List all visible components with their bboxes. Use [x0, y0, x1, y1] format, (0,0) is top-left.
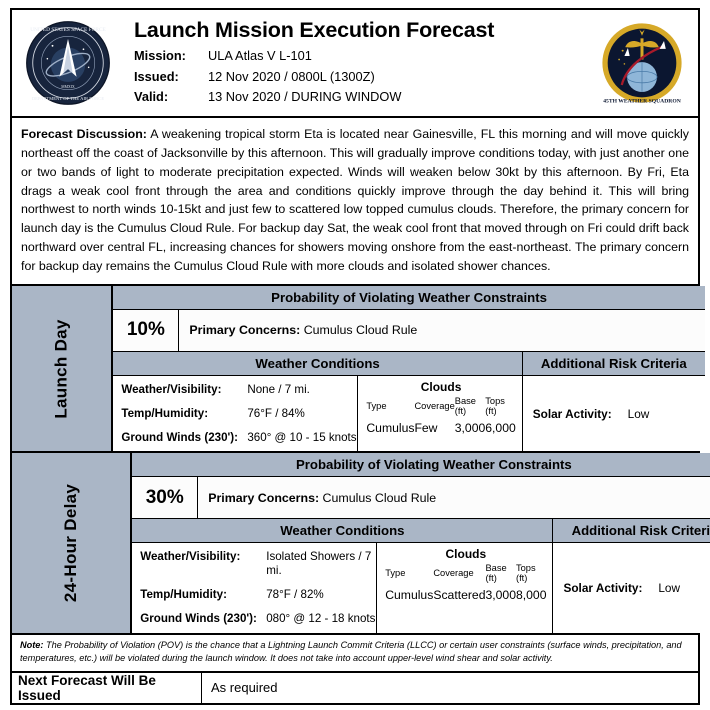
weather-conditions-band: Weather Conditions: [132, 519, 553, 542]
ground-winds-label: Ground Winds (230'):: [121, 431, 247, 445]
forecast-discussion-label: Forecast Discussion:: [21, 127, 147, 141]
solar-activity-line: Solar Activity:Low: [533, 407, 650, 421]
clouds-table: Clouds Type Coverage Base (ft) Tops (ft)…: [377, 543, 552, 633]
mission-value: ULA Atlas V L-101: [208, 46, 312, 67]
header-title-block: Launch Mission Execution Forecast Missio…: [116, 18, 594, 108]
primary-concerns-value: Cumulus Cloud Rule: [304, 323, 418, 337]
weather-visibility-value: Isolated Showers / 7 mi.: [266, 550, 376, 578]
meta-row-valid: Valid: 13 Nov 2020 / DURING WINDOW: [134, 87, 594, 108]
weather-visibility-label: Weather/Visibility:: [121, 383, 247, 397]
cloud-coverage-value: Scattered: [433, 588, 485, 602]
clouds-grid: Type Coverage Base (ft) Tops (ft) Cumulu…: [385, 563, 546, 602]
additional-risk-column: Solar Activity:Low: [523, 376, 705, 452]
cloud-tops-value: 6,000: [485, 421, 516, 435]
primary-concerns: Primary Concerns: Cumulus Cloud Rule: [179, 310, 417, 351]
valid-label: Valid:: [134, 87, 208, 108]
clouds-col-coverage: Coverage: [414, 396, 454, 421]
clouds-title: Clouds: [366, 380, 515, 394]
clouds-col-coverage: Coverage: [433, 563, 485, 588]
clouds-table: Clouds Type Coverage Base (ft) Tops (ft)…: [358, 376, 521, 452]
subhead-row: Weather Conditions Additional Risk Crite…: [113, 352, 704, 376]
clouds-grid: Type Coverage Base (ft) Tops (ft) Cumulu…: [366, 396, 515, 435]
space-force-seal: UNITED STATES SPACE FORCE DEPARTMENT OF …: [20, 20, 116, 106]
weather-conditions-band: Weather Conditions: [113, 352, 522, 375]
meta-row-issued: Issued: 12 Nov 2020 / 0800L (1300Z): [134, 67, 594, 88]
temp-humidity-label: Temp/Humidity:: [121, 407, 247, 421]
cloud-tops-value: 8,000: [516, 588, 547, 602]
clouds-col-type: Type: [385, 563, 433, 588]
weather-visibility-value: None / 7 mi.: [247, 383, 310, 397]
page-title: Launch Mission Execution Forecast: [134, 18, 594, 43]
section-vertical-label-24-hour-delay: 24-Hour Delay: [12, 453, 132, 633]
solar-activity-value: Low: [658, 581, 680, 595]
subhead-row: Weather Conditions Additional Risk Crite…: [132, 519, 710, 543]
ground-winds-line: Ground Winds (230'): 080° @ 12 - 18 knot…: [140, 612, 376, 626]
pov-row: 30% Primary Concerns: Cumulus Cloud Rule: [132, 477, 710, 519]
pov-note-text: The Probability of Violation (POV) is th…: [20, 640, 682, 663]
clouds-col-type: Type: [366, 396, 414, 421]
solar-activity-label: Solar Activity:: [533, 407, 612, 421]
weather-visibility-line: Weather/Visibility: None / 7 mi.: [121, 383, 357, 397]
vertical-label-text: Launch Day: [52, 319, 72, 418]
next-forecast-label: Next Forecast Will Be Issued: [12, 673, 202, 703]
pov-note: Note: The Probability of Violation (POV)…: [10, 635, 700, 673]
primary-concerns-label: Primary Concerns:: [208, 491, 319, 505]
temp-humidity-line: Temp/Humidity: 78°F / 82%: [140, 588, 376, 602]
pov-band-title: Probability of Violating Weather Constra…: [132, 453, 710, 477]
pov-band-title: Probability of Violating Weather Constra…: [113, 286, 704, 310]
clouds-col-base: Base (ft): [485, 563, 516, 588]
united-states-space-force-seal-icon: UNITED STATES SPACE FORCE DEPARTMENT OF …: [25, 20, 111, 106]
ground-winds-value: 080° @ 12 - 18 knots: [266, 612, 375, 626]
clouds-title: Clouds: [385, 547, 546, 561]
cloud-coverage-value: Few: [414, 421, 454, 435]
temp-humidity-line: Temp/Humidity: 76°F / 84%: [121, 407, 357, 421]
temp-humidity-value: 78°F / 82%: [266, 588, 323, 602]
svg-text:UNITED STATES SPACE FORCE: UNITED STATES SPACE FORCE: [30, 27, 106, 33]
next-forecast-row: Next Forecast Will Be Issued As required: [10, 673, 700, 705]
clouds-col-base: Base (ft): [455, 396, 486, 421]
mission-label: Mission:: [134, 46, 208, 67]
svg-text:MMXIX: MMXIX: [61, 85, 75, 89]
cloud-base-value: 3,000: [455, 421, 486, 435]
weather-squadron-patch: 45TH WEATHER SQUADRON: [594, 19, 690, 107]
valid-value: 13 Nov 2020 / DURING WINDOW: [208, 87, 401, 108]
issued-value: 12 Nov 2020 / 0800L (1300Z): [208, 67, 375, 88]
pov-note-label: Note:: [20, 640, 43, 650]
ground-winds-line: Ground Winds (230'): 360° @ 10 - 15 knot…: [121, 431, 357, 445]
solar-activity-value: Low: [628, 407, 650, 421]
pov-row: 10% Primary Concerns: Cumulus Cloud Rule: [113, 310, 704, 352]
solar-activity-label: Solar Activity:: [563, 581, 642, 595]
primary-concerns: Primary Concerns: Cumulus Cloud Rule: [198, 477, 436, 518]
forecast-discussion-text: A weakening tropical storm Eta is locate…: [21, 127, 689, 273]
clouds-col-tops: Tops (ft): [516, 563, 547, 588]
section-body: Probability of Violating Weather Constra…: [113, 286, 704, 452]
additional-risk-band: Additional Risk Criteria: [523, 352, 705, 375]
next-forecast-value: As required: [202, 673, 277, 703]
clouds-header-row: Type Coverage Base (ft) Tops (ft): [366, 396, 515, 421]
detail-row: Weather/Visibility: Isolated Showers / 7…: [132, 543, 710, 633]
table-row: Cumulus Few 3,000 6,000: [366, 421, 515, 435]
temp-humidity-value: 76°F / 84%: [247, 407, 304, 421]
temp-humidity-label: Temp/Humidity:: [140, 588, 266, 602]
meta-row-mission: Mission: ULA Atlas V L-101: [134, 46, 594, 67]
clouds-header-row: Type Coverage Base (ft) Tops (ft): [385, 563, 546, 588]
issued-label: Issued:: [134, 67, 208, 88]
solar-activity-line: Solar Activity:Low: [563, 581, 680, 595]
forecast-discussion: Forecast Discussion: A weakening tropica…: [10, 118, 700, 286]
weather-visibility-label: Weather/Visibility:: [140, 550, 266, 578]
cloud-base-value: 3,000: [485, 588, 516, 602]
weather-conditions-column: Weather/Visibility: Isolated Showers / 7…: [132, 543, 553, 633]
weather-conditions-column: Weather/Visibility: None / 7 mi. Temp/Hu…: [113, 376, 522, 452]
primary-concerns-label: Primary Concerns:: [189, 323, 300, 337]
vertical-label-text: 24-Hour Delay: [61, 484, 81, 602]
table-row: Cumulus Scattered 3,000 8,000: [385, 588, 546, 602]
cloud-type-value: Cumulus: [366, 421, 414, 435]
pov-percentage: 10%: [113, 310, 179, 351]
additional-risk-column: Solar Activity:Low: [553, 543, 710, 633]
document-header: UNITED STATES SPACE FORCE DEPARTMENT OF …: [10, 8, 700, 118]
section-launch-day: Launch Day Probability of Violating Weat…: [10, 286, 700, 454]
45th-weather-squadron-patch-icon: 45TH WEATHER SQUADRON: [598, 19, 686, 107]
ground-winds-value: 360° @ 10 - 15 knots: [247, 431, 356, 445]
weather-fields: Weather/Visibility: Isolated Showers / 7…: [132, 543, 377, 633]
clouds-col-tops: Tops (ft): [485, 396, 516, 421]
cloud-type-value: Cumulus: [385, 588, 433, 602]
primary-concerns-value: Cumulus Cloud Rule: [323, 491, 437, 505]
ground-winds-label: Ground Winds (230'):: [140, 612, 266, 626]
section-body: Probability of Violating Weather Constra…: [132, 453, 710, 633]
weather-fields: Weather/Visibility: None / 7 mi. Temp/Hu…: [113, 376, 358, 452]
section-24-hour-delay: 24-Hour Delay Probability of Violating W…: [10, 453, 700, 635]
weather-visibility-line: Weather/Visibility: Isolated Showers / 7…: [140, 550, 376, 578]
svg-text:45TH WEATHER SQUADRON: 45TH WEATHER SQUADRON: [603, 99, 681, 105]
forecast-document: UNITED STATES SPACE FORCE DEPARTMENT OF …: [0, 0, 710, 710]
svg-text:DEPARTMENT OF THE AIR FORCE: DEPARTMENT OF THE AIR FORCE: [32, 97, 105, 102]
section-vertical-label-launch-day: Launch Day: [12, 286, 113, 452]
pov-percentage: 30%: [132, 477, 198, 518]
detail-row: Weather/Visibility: None / 7 mi. Temp/Hu…: [113, 376, 704, 452]
additional-risk-band: Additional Risk Criteria: [553, 519, 710, 542]
